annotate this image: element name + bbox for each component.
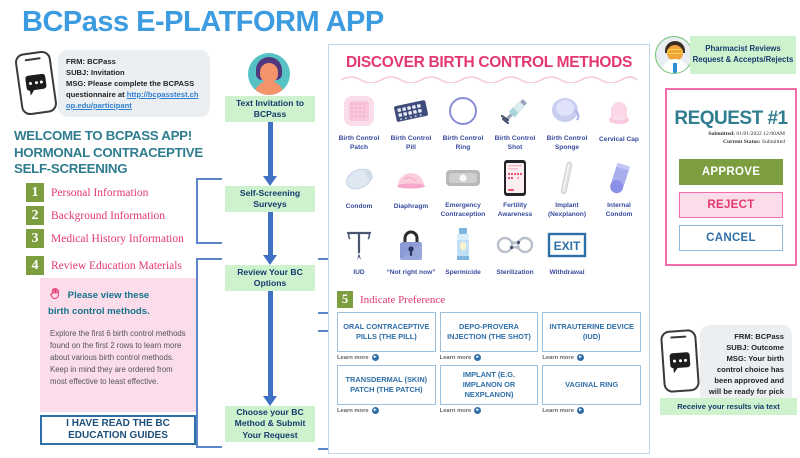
preference-cell: DEPO-PROVERA INJECTION (THE SHOT) Learn … (440, 312, 539, 361)
method-label: Birth Control Patch (333, 135, 385, 152)
method-label: Internal Condom (593, 202, 645, 219)
method-label: Sterilization (496, 269, 533, 285)
preference-cell: IMPLANT (E.G. IMPLANON OR NEXPLANON) Lea… (440, 365, 539, 414)
learn-more-label: Learn more (542, 355, 574, 361)
sms-subject: SUBJ: Invitation (66, 67, 202, 78)
reject-button[interactable]: REJECT (679, 192, 783, 218)
spermicide-tube-icon (450, 223, 476, 267)
method-diaphragm[interactable]: Diaphragm (385, 156, 437, 219)
cancel-button[interactable]: CANCEL (679, 225, 783, 251)
patch-icon (342, 89, 376, 133)
request-submitted-value: 01/01/2022 12:00AM (735, 131, 785, 137)
preference-card-transdermal-patch[interactable]: TRANSDERMAL (SKIN) PATCH (THE PATCH) (337, 365, 436, 405)
sms-from: FRM: BCPass (708, 331, 784, 342)
learn-more-label: Learn more (337, 408, 369, 414)
method-label: Spermicide (445, 269, 481, 285)
sponge-icon (549, 89, 585, 133)
user-avatar-icon (248, 53, 290, 95)
cervical-cap-icon (603, 90, 635, 134)
padlock-icon (396, 223, 426, 267)
sms-subject: SUBJ: Outcome (708, 342, 784, 353)
flow-arrow-3-icon (268, 291, 273, 397)
education-body-text: Explore the first 6 birth control method… (40, 319, 196, 388)
learn-more-iud[interactable]: Learn more ▸ (542, 354, 641, 361)
preference-card-depo-provera[interactable]: DEPO-PROVERA INJECTION (THE SHOT) (440, 312, 539, 352)
left-step-1[interactable]: 1 Personal Information (26, 183, 148, 202)
method-label: Emergency Contraception (437, 202, 489, 219)
syringe-icon (498, 89, 532, 133)
method-birth-control-patch[interactable]: Birth Control Patch (333, 89, 385, 152)
emergency-pill-icon (444, 156, 482, 200)
flow-step-self-screening[interactable]: Self-Screening Surveys (225, 186, 315, 212)
hand-stop-icon (48, 286, 63, 306)
flow-step-choose-submit[interactable]: Choose your BC Method & Submit Your Requ… (225, 406, 315, 442)
method-iud[interactable]: IUD (333, 223, 385, 285)
bracket-steps-1-3 (196, 178, 222, 244)
method-not-right-now[interactable]: “Not right now” (385, 223, 437, 285)
left-step-3[interactable]: 3 Medical History Information (26, 229, 184, 248)
welcome-heading: WELCOME TO BCPASS APP! HORMONAL CONTRACE… (14, 128, 214, 178)
step-label: Review Education Materials (51, 260, 182, 272)
step-number-badge: 3 (26, 229, 44, 248)
method-label: Cervical Cap (599, 136, 639, 152)
phone-illustration-invite (14, 50, 58, 116)
learn-more-oral-pills[interactable]: Learn more ▸ (337, 354, 436, 361)
method-spermicide[interactable]: Spermicide (437, 223, 489, 285)
preference-cell: TRANSDERMAL (SKIN) PATCH (THE PATCH) Lea… (337, 365, 436, 414)
approve-button[interactable]: APPROVE (679, 159, 783, 185)
method-label: Birth Control Ring (437, 135, 489, 152)
method-row-3: IUD “Not right now” (329, 223, 649, 285)
step-label: Background Information (51, 210, 165, 222)
ring-icon (447, 89, 479, 133)
exit-sign-icon: EXIT (547, 223, 587, 267)
method-birth-control-ring[interactable]: Birth Control Ring (437, 89, 489, 152)
chat-bubble-icon (25, 73, 47, 91)
preference-card-vaginal-ring[interactable]: VAGINAL RING (542, 365, 641, 405)
discover-panel-title: DISCOVER BIRTH CONTROL METHODS (329, 54, 649, 72)
sms-from: FRM: BCPass (66, 56, 202, 67)
method-label: Withdrawal (549, 269, 584, 285)
method-internal-condom[interactable]: Internal Condom (593, 156, 645, 219)
arrow-right-icon: ▸ (372, 407, 379, 414)
chat-bubble-icon (669, 352, 690, 368)
step-number-badge: 1 (26, 183, 44, 202)
method-label: Condom (346, 203, 373, 219)
flow-step-text-invitation[interactable]: Text Invitation to BCPass (225, 96, 315, 122)
method-label: Implant (Nexplanon) (541, 202, 593, 219)
internal-condom-icon (604, 156, 634, 200)
request-status: Current Status: Submitted (667, 138, 795, 146)
education-heading: Please view these birth control methods. (40, 278, 196, 319)
preference-cell: ORAL CONTRACEPTIVE PILLS (THE PILL) Lear… (337, 312, 436, 361)
preference-row-1: ORAL CONTRACEPTIVE PILLS (THE PILL) Lear… (337, 312, 641, 361)
pharmacist-avatar-icon (655, 36, 693, 74)
arrow-right-icon: ▸ (372, 354, 379, 361)
preference-card-oral-pills[interactable]: ORAL CONTRACEPTIVE PILLS (THE PILL) (337, 312, 436, 352)
pill-pack-icon (392, 89, 430, 133)
method-birth-control-shot[interactable]: Birth Control Shot (489, 89, 541, 152)
preference-cell: INTRAUTERINE DEVICE (IUD) Learn more ▸ (542, 312, 641, 361)
education-heading-line-2: birth control methods. (48, 306, 188, 319)
request-title: REQUEST #1 (667, 108, 795, 130)
pharmacist-review-label: Pharmacist Reviews Request & Accepts/Rej… (690, 36, 796, 74)
discover-methods-panel: DISCOVER BIRTH CONTROL METHODS (328, 44, 650, 454)
tubal-knot-icon (495, 223, 535, 267)
step-number-badge: 2 (26, 206, 44, 225)
arrow-right-icon: ▸ (474, 407, 481, 414)
flow-step-review-options[interactable]: Review Your BC Options (225, 265, 315, 291)
svg-text:EXIT: EXIT (554, 239, 581, 253)
preference-cell: VAGINAL RING Learn more ▸ (542, 365, 641, 414)
preference-card-iud[interactable]: INTRAUTERINE DEVICE (IUD) (542, 312, 641, 352)
learn-more-label: Learn more (440, 355, 472, 361)
method-row-1: Birth Control Patch (329, 89, 649, 152)
method-birth-control-sponge[interactable]: Birth Control Sponge (541, 89, 593, 152)
step-number-badge: 4 (26, 256, 44, 275)
method-condom[interactable]: Condom (333, 156, 385, 219)
calendar-phone-icon (503, 156, 527, 200)
condom-icon (341, 157, 377, 201)
request-status-key: Current Status: (723, 139, 761, 145)
implant-rod-icon (554, 156, 580, 200)
method-fertility-awareness[interactable]: Fertility Awareness (489, 156, 541, 219)
method-label: Fertility Awareness (489, 202, 541, 219)
education-materials-box: Please view these birth control methods.… (40, 278, 196, 412)
method-sterilization[interactable]: Sterilization (489, 223, 541, 285)
request-submitted-key: Submitted: (708, 131, 735, 137)
method-label: Birth Control Shot (489, 135, 541, 152)
welcome-line-3: SELF-SCREENING (14, 161, 214, 178)
learn-more-label: Learn more (542, 408, 574, 414)
method-label: Birth Control Sponge (541, 135, 593, 152)
left-step-2[interactable]: 2 Background Information (26, 206, 165, 225)
diaphragm-icon (394, 157, 428, 201)
page-title: BCPass E-PLATFORM APP (22, 6, 384, 39)
method-row-2: Condom Diaphragm (329, 156, 649, 219)
phone-illustration-outcome (660, 329, 700, 393)
request-status-value: Submitted (761, 139, 785, 145)
learn-more-vaginal-ring[interactable]: Learn more ▸ (542, 407, 641, 414)
indicate-preference-heading: 5 Indicate Preference (337, 291, 649, 308)
learn-more-transdermal-patch[interactable]: Learn more ▸ (337, 407, 436, 414)
method-emergency-contraception[interactable]: Emergency Contraception (437, 156, 489, 219)
education-heading-line-1: Please view these (68, 290, 150, 301)
method-cervical-cap[interactable]: Cervical Cap (593, 89, 645, 152)
arrow-right-icon: ▸ (577, 354, 584, 361)
method-label: Diaphragm (394, 203, 428, 219)
left-step-4[interactable]: 4 Review Education Materials (26, 256, 182, 275)
flow-arrow-2-icon (268, 212, 273, 256)
welcome-line-1: WELCOME TO BCPASS APP! (14, 128, 214, 145)
step-number-badge: 5 (337, 291, 353, 308)
step-label: Medical History Information (51, 233, 184, 245)
learn-more-label: Learn more (337, 355, 369, 361)
method-birth-control-pill[interactable]: Birth Control Pill (385, 89, 437, 152)
bracket-step-4 (196, 258, 222, 448)
iud-icon (344, 223, 374, 267)
step-label: Personal Information (51, 187, 148, 199)
preference-card-implant[interactable]: IMPLANT (E.G. IMPLANON OR NEXPLANON) (440, 365, 539, 405)
preference-row-2: TRANSDERMAL (SKIN) PATCH (THE PATCH) Lea… (337, 365, 641, 414)
sms-invitation-bubble: FRM: BCPass SUBJ: Invitation MSG: Please… (58, 50, 210, 117)
wave-divider-icon (339, 75, 639, 83)
infographic-page: BCPass E-PLATFORM APP FRM: BCPass SUBJ: … (0, 0, 800, 458)
request-submitted: Submitted: 01/01/2022 12:00AM (667, 130, 795, 138)
learn-more-depo-provera[interactable]: Learn more ▸ (440, 354, 539, 361)
arrow-right-icon: ▸ (474, 354, 481, 361)
method-label: Birth Control Pill (385, 135, 437, 152)
method-label: “Not right now” (386, 269, 435, 285)
request-card: REQUEST #1 Submitted: 01/01/2022 12:00AM… (665, 88, 797, 266)
preference-heading-label: Indicate Preference (360, 294, 445, 306)
learn-more-label: Learn more (440, 408, 472, 414)
receive-results-label: Receive your results via text (660, 398, 797, 415)
education-read-confirm-button[interactable]: I HAVE READ THE BC EDUCATION GUIDES (40, 415, 196, 445)
method-withdrawal[interactable]: EXIT Withdrawal (541, 223, 593, 285)
learn-more-implant[interactable]: Learn more ▸ (440, 407, 539, 414)
method-row3-spacer (593, 223, 645, 285)
arrow-right-icon: ▸ (577, 407, 584, 414)
method-label: IUD (353, 269, 364, 285)
welcome-line-2: HORMONAL CONTRACEPTIVE (14, 145, 214, 162)
method-implant-nexplanon[interactable]: Implant (Nexplanon) (541, 156, 593, 219)
flow-arrow-1-icon (268, 122, 273, 177)
